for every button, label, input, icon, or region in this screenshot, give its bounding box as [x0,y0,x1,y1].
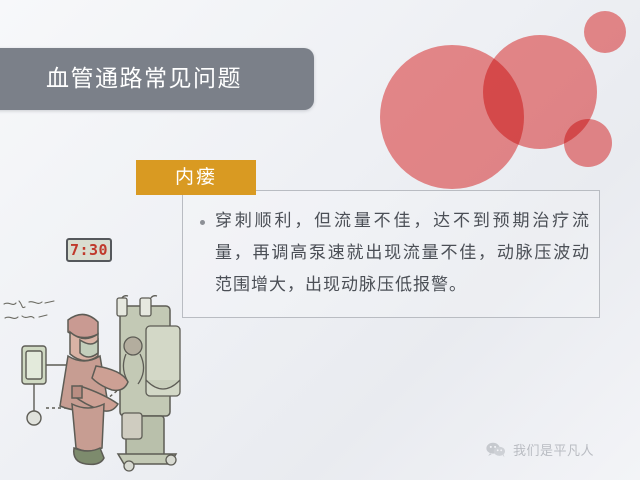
wechat-icon [486,442,506,458]
section-label-tab: 内瘘 [136,160,256,195]
watermark-text: 我们是平凡人 [513,440,594,459]
content-list: 穿刺顺利，但流量不佳，达不到预期治疗流量，再调高泵速就出现流量不佳，动脉压波动范… [200,205,590,301]
slide-title-bar: 血管通路常见问题 [0,48,314,110]
decor-circle-small-top-right [584,11,626,53]
bullet-icon [200,220,205,225]
handwriting-note-icon [2,298,68,332]
watermark: 我们是平凡人 [486,440,594,459]
clock-time: 7:30 [68,240,110,260]
section-label-text: 内瘘 [136,160,256,195]
list-item: 穿刺顺利，但流量不佳，达不到预期治疗流量，再调高泵速就出现流量不佳，动脉压波动范… [200,205,590,301]
slide-canvas: 血管通路常见问题 [0,0,640,480]
decor-circle-small-right [564,119,612,167]
digital-clock: 7:30 [66,238,112,262]
page-title: 血管通路常见问题 [46,48,242,110]
list-item-text: 穿刺顺利，但流量不佳，达不到预期治疗流量，再调高泵速就出现流量不佳，动脉压波动范… [215,205,590,301]
